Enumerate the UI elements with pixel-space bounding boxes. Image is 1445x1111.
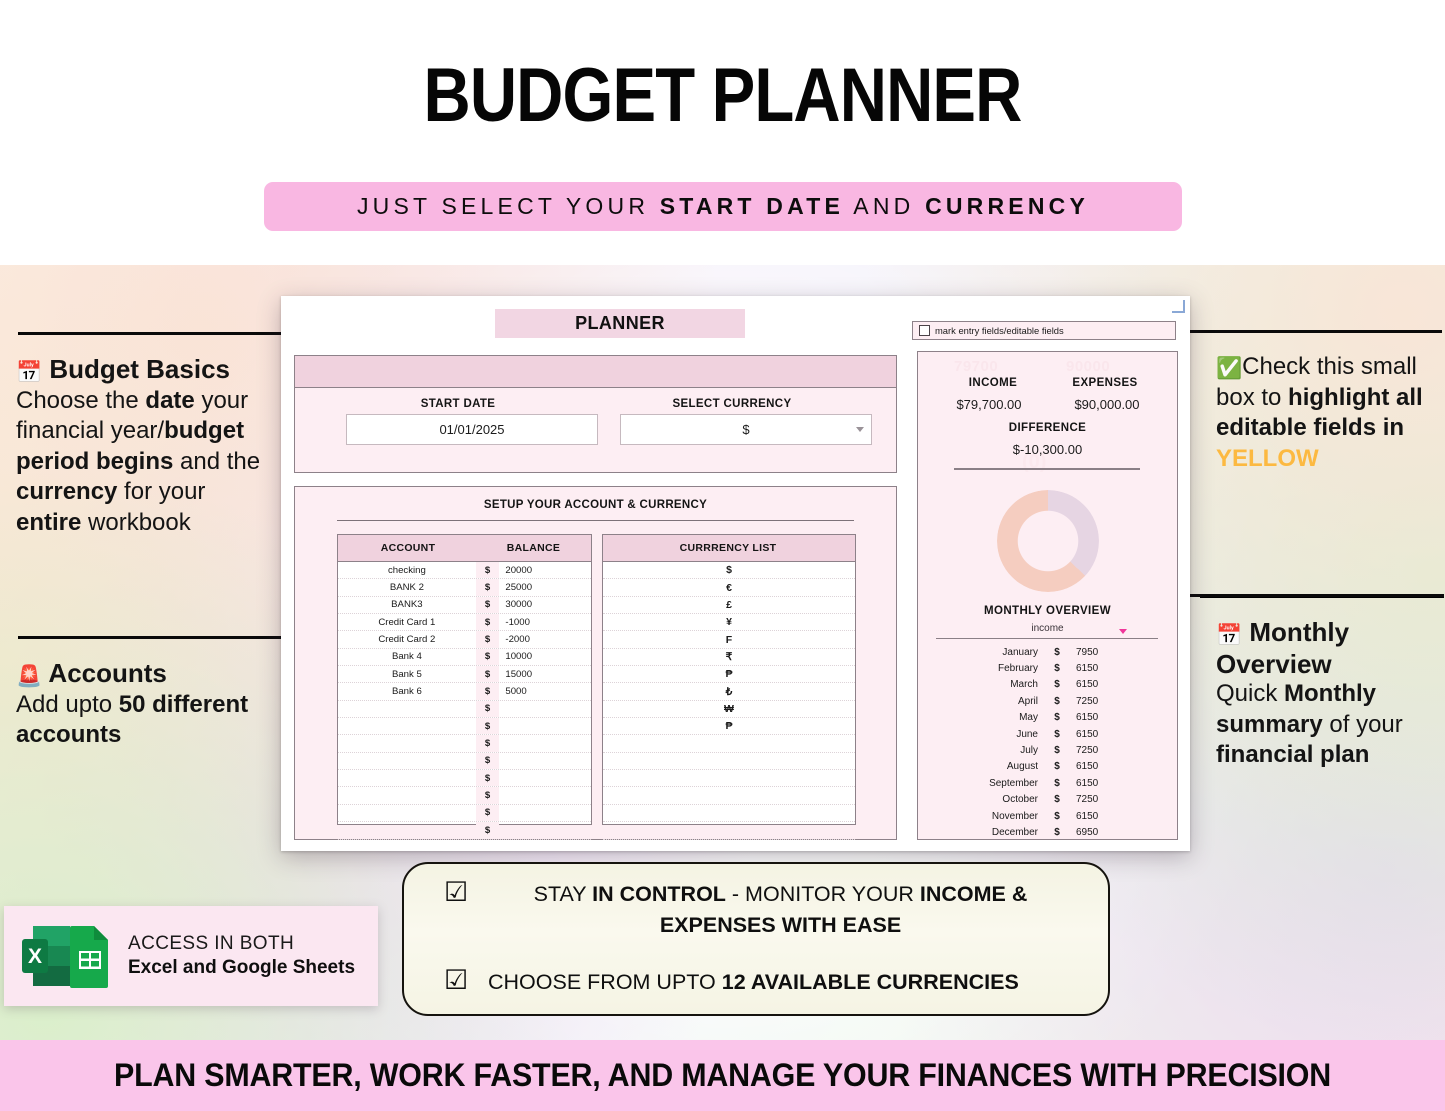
- annotation-monthly-overview: 📅 Monthly Overview Quick Monthly summary…: [1216, 617, 1441, 771]
- annotation-accounts-heading: 🚨 Accounts: [16, 658, 274, 690]
- subtitle-currency: CURRENCY: [925, 193, 1089, 219]
- month-value: 6150: [1066, 761, 1136, 772]
- accounts-table-header: ACCOUNT BALANCE: [338, 535, 591, 562]
- income-expenses-donut-chart: [997, 490, 1099, 592]
- calendar-icon: 📅: [1216, 624, 1242, 647]
- badge-text: ACCESS IN BOTH Excel and Google Sheets: [128, 933, 355, 980]
- mark-entry-fields-checkbox[interactable]: [919, 325, 930, 336]
- month-currency-symbol: $: [1048, 761, 1066, 772]
- account-balance-cell[interactable]: 25000: [499, 582, 591, 593]
- table-row: March$6150: [918, 677, 1177, 693]
- annotation-budget-basics-body: Choose the date your financial year/budg…: [16, 386, 274, 538]
- monthly-overview-selector[interactable]: income: [918, 623, 1177, 634]
- table-row[interactable]: $: [338, 787, 591, 804]
- subtitle-start-date: START DATE: [660, 193, 844, 219]
- arrow-to-planner-tab: [20, 332, 320, 335]
- list-item[interactable]: £: [603, 597, 855, 614]
- features-callout: ☑ STAY IN CONTROL - MONITOR YOUR INCOME …: [402, 862, 1110, 1016]
- month-currency-symbol: $: [1048, 663, 1066, 674]
- month-value: 6150: [1066, 712, 1136, 723]
- account-currency-cell: $: [476, 735, 500, 751]
- difference-value: $-10,300.00: [918, 442, 1177, 457]
- excel-icon: X: [22, 926, 70, 986]
- subtitle-pre: JUST SELECT YOUR: [357, 193, 660, 219]
- column-header-currency-list: CURRRENCY LIST: [603, 542, 853, 554]
- monthly-overview-title: MONTHLY OVERVIEW: [918, 605, 1177, 617]
- table-row[interactable]: Credit Card 1$-1000: [338, 614, 591, 631]
- list-item[interactable]: [603, 753, 855, 770]
- callout-line-1-text: STAY IN CONTROL - MONITOR YOUR INCOME & …: [488, 879, 1073, 941]
- month-currency-symbol: $: [1048, 745, 1066, 756]
- expenses-watermark: 90000: [1066, 358, 1110, 375]
- table-row[interactable]: Bank 6$5000: [338, 683, 591, 700]
- badge-line-2: Excel and Google Sheets: [128, 956, 355, 980]
- account-balance-cell[interactable]: 10000: [499, 651, 591, 662]
- month-label: June: [918, 729, 1048, 740]
- account-balance-cell[interactable]: -2000: [499, 634, 591, 645]
- month-value: 6150: [1066, 679, 1136, 690]
- select-currency-label: SELECT CURRENCY: [607, 398, 857, 410]
- account-name-cell[interactable]: Bank 6: [338, 686, 476, 697]
- table-row: July$7250: [918, 742, 1177, 758]
- month-currency-symbol: $: [1048, 811, 1066, 822]
- expenses-value: $90,000.00: [1048, 397, 1166, 412]
- account-name-cell[interactable]: Bank 4: [338, 651, 476, 662]
- check-mark-icon: ☑: [444, 967, 488, 994]
- month-currency-symbol: $: [1048, 679, 1066, 690]
- annotation-accounts: 🚨 Accounts Add upto 50 different account…: [16, 658, 274, 751]
- monthly-overview-divider: [936, 638, 1158, 639]
- spreadsheet-window[interactable]: PLANNER START DATE SELECT CURRENCY 01/01…: [281, 296, 1190, 851]
- month-value: 7950: [1066, 647, 1136, 658]
- month-currency-symbol: $: [1048, 778, 1066, 789]
- list-item[interactable]: $: [603, 562, 855, 579]
- list-item[interactable]: ₱: [603, 666, 855, 683]
- date-currency-card: START DATE SELECT CURRENCY 01/01/2025 $: [294, 355, 897, 473]
- account-name-cell[interactable]: BANK 2: [338, 582, 476, 593]
- month-label: December: [918, 827, 1048, 838]
- list-item[interactable]: ₺: [603, 683, 855, 700]
- table-row[interactable]: checking$20000: [338, 562, 591, 579]
- badge-line-1: ACCESS IN BOTH: [128, 933, 355, 956]
- account-currency-cell: $: [476, 579, 500, 595]
- account-balance-cell[interactable]: 30000: [499, 599, 591, 610]
- month-label: July: [918, 745, 1048, 756]
- table-row[interactable]: $: [338, 735, 591, 752]
- subtitle-pill: JUST SELECT YOUR START DATE AND CURRENCY: [264, 182, 1182, 231]
- table-row[interactable]: $: [338, 718, 591, 735]
- annotation-budget-basics-heading: 📅 Budget Basics: [16, 354, 274, 386]
- account-currency-cell: $: [476, 666, 500, 682]
- table-row[interactable]: BANK3$30000: [338, 597, 591, 614]
- currency-list-header: CURRRENCY LIST: [603, 535, 855, 562]
- setup-card: SETUP YOUR ACCOUNT & CURRENCY ACCOUNT BA…: [294, 486, 897, 840]
- month-value: 6150: [1066, 729, 1136, 740]
- account-name-cell[interactable]: checking: [338, 565, 476, 576]
- annotation-accounts-body: Add upto 50 different accounts: [16, 690, 274, 751]
- summary-card: 79700 90000 (0) INCOME EXPENSES $79,700.…: [917, 351, 1178, 840]
- callout-line-2-text: CHOOSE FROM UPTO 12 AVAILABLE CURRENCIES: [488, 967, 1084, 998]
- table-row: February$6150: [918, 660, 1177, 676]
- column-header-account: ACCOUNT: [338, 542, 478, 554]
- account-currency-cell: $: [476, 597, 500, 613]
- mark-entry-fields-row[interactable]: mark entry fields/editable fields: [912, 321, 1176, 340]
- table-row[interactable]: $: [338, 753, 591, 770]
- annotation-monthly-overview-heading: 📅 Monthly Overview: [1216, 617, 1441, 679]
- accounts-table[interactable]: ACCOUNT BALANCE checking$20000BANK 2$250…: [337, 534, 592, 825]
- check-mark-icon: ☑: [444, 879, 488, 906]
- accounts-table-body[interactable]: checking$20000BANK 2$25000BANK3$30000Cre…: [338, 562, 591, 840]
- list-item[interactable]: F: [603, 631, 855, 648]
- table-row: November$6150: [918, 808, 1177, 824]
- table-row: June$6150: [918, 726, 1177, 742]
- chevron-down-icon[interactable]: [1119, 629, 1127, 634]
- account-name-cell[interactable]: BANK3: [338, 599, 476, 610]
- table-row[interactable]: $: [338, 770, 591, 787]
- account-name-cell[interactable]: Bank 5: [338, 669, 476, 680]
- list-item[interactable]: ₹: [603, 649, 855, 666]
- start-date-label: START DATE: [333, 398, 583, 410]
- month-value: 7250: [1066, 794, 1136, 805]
- month-label: January: [918, 647, 1048, 658]
- svg-text:X: X: [28, 945, 42, 968]
- month-label: October: [918, 794, 1048, 805]
- setup-divider: [337, 520, 854, 521]
- summary-divider: [954, 468, 1140, 470]
- table-row: May$6150: [918, 710, 1177, 726]
- currency-select[interactable]: $: [620, 414, 872, 445]
- google-sheets-icon: [70, 926, 108, 988]
- table-row: October$7250: [918, 792, 1177, 808]
- arrow-to-monthly-overview: [1156, 594, 1444, 597]
- month-currency-symbol: $: [1048, 729, 1066, 740]
- list-item[interactable]: ¥: [603, 614, 855, 631]
- month-value: 6950: [1066, 827, 1136, 838]
- account-balance-cell[interactable]: 20000: [499, 565, 591, 576]
- mark-entry-fields-label: mark entry fields/editable fields: [935, 325, 1064, 336]
- bottom-banner: PLAN SMARTER, WORK FASTER, AND MANAGE YO…: [0, 1040, 1445, 1111]
- account-balance-cell[interactable]: -1000: [499, 617, 591, 628]
- list-item[interactable]: [603, 735, 855, 752]
- account-currency-cell: $: [476, 683, 500, 699]
- month-value: 6150: [1066, 811, 1136, 822]
- check-box-icon: ✅: [1216, 357, 1242, 380]
- table-row: April$7250: [918, 693, 1177, 709]
- planner-title-banner: PLANNER: [495, 309, 745, 338]
- account-balance-cell[interactable]: 5000: [499, 686, 591, 697]
- page-title: BUDGET PLANNER: [101, 58, 1344, 134]
- table-row[interactable]: $: [338, 822, 591, 839]
- resize-corner-icon[interactable]: [1172, 300, 1185, 313]
- table-row: January$7950: [918, 644, 1177, 660]
- chevron-down-icon[interactable]: [856, 427, 864, 432]
- planner-title-text: PLANNER: [575, 313, 665, 334]
- list-item[interactable]: [603, 822, 855, 839]
- month-currency-symbol: $: [1048, 647, 1066, 658]
- difference-label: DIFFERENCE: [918, 422, 1177, 434]
- account-currency-cell: $: [476, 753, 500, 769]
- month-label: April: [918, 696, 1048, 707]
- access-badge: X ACCESS IN BOTH Excel and Google Sheets: [4, 906, 378, 1006]
- callout-line-2: ☑ CHOOSE FROM UPTO 12 AVAILABLE CURRENCI…: [444, 967, 1084, 998]
- income-label: INCOME: [938, 377, 1048, 389]
- account-currency-cell: $: [476, 805, 500, 821]
- account-currency-cell: $: [476, 562, 500, 578]
- table-row[interactable]: $: [338, 701, 591, 718]
- annotation-editable-fields: ✅Check this small box to highlight all e…: [1216, 352, 1441, 474]
- currency-select-value: $: [742, 422, 749, 437]
- month-currency-symbol: $: [1048, 696, 1066, 707]
- account-currency-cell: $: [476, 614, 500, 630]
- annotation-editable-fields-body: ✅Check this small box to highlight all e…: [1216, 352, 1441, 474]
- annotation-budget-basics: 📅 Budget Basics Choose the date your fin…: [16, 354, 274, 538]
- app-logos: X: [18, 920, 118, 992]
- list-item[interactable]: [603, 805, 855, 822]
- month-label: September: [918, 778, 1048, 789]
- month-currency-symbol: $: [1048, 827, 1066, 838]
- table-row: December$6950: [918, 824, 1177, 840]
- callout-line-1: ☑ STAY IN CONTROL - MONITOR YOUR INCOME …: [444, 879, 1074, 941]
- month-currency-symbol: $: [1048, 712, 1066, 723]
- start-date-input[interactable]: 01/01/2025: [346, 414, 598, 445]
- currency-list-table[interactable]: CURRRENCY LIST $€£¥F₹₱₺₩₱: [602, 534, 856, 825]
- bottom-banner-text: PLAN SMARTER, WORK FASTER, AND MANAGE YO…: [114, 1057, 1331, 1094]
- account-currency-cell: $: [476, 718, 500, 734]
- account-currency-cell: $: [476, 631, 500, 647]
- header-zone: BUDGET PLANNER JUST SELECT YOUR START DA…: [0, 0, 1445, 265]
- list-item[interactable]: €: [603, 579, 855, 596]
- account-name-cell[interactable]: Credit Card 2: [338, 634, 476, 645]
- income-value: $79,700.00: [934, 397, 1044, 412]
- month-label: March: [918, 679, 1048, 690]
- table-row: August$6150: [918, 759, 1177, 775]
- list-item[interactable]: [603, 770, 855, 787]
- month-label: August: [918, 761, 1048, 772]
- list-item[interactable]: [603, 787, 855, 804]
- account-currency-cell: $: [476, 649, 500, 665]
- account-name-cell[interactable]: Credit Card 1: [338, 617, 476, 628]
- table-row: September$6150: [918, 775, 1177, 791]
- list-item[interactable]: ₩: [603, 701, 855, 718]
- column-header-balance: BALANCE: [478, 542, 589, 554]
- month-label: November: [918, 811, 1048, 822]
- annotation-monthly-overview-body: Quick Monthly summary of your financial …: [1216, 679, 1441, 770]
- currency-list-body[interactable]: $€£¥F₹₱₺₩₱: [603, 562, 855, 840]
- setup-card-title: SETUP YOUR ACCOUNT & CURRENCY: [295, 499, 896, 511]
- account-balance-cell[interactable]: 15000: [499, 669, 591, 680]
- table-row[interactable]: $: [338, 805, 591, 822]
- table-row[interactable]: Credit Card 2$-2000: [338, 631, 591, 648]
- list-item[interactable]: ₱: [603, 718, 855, 735]
- account-currency-cell: $: [476, 822, 500, 838]
- subtitle-text: JUST SELECT YOUR START DATE AND CURRENCY: [357, 193, 1089, 220]
- date-currency-card-header: [295, 356, 896, 388]
- month-label: May: [918, 712, 1048, 723]
- expenses-label: EXPENSES: [1050, 377, 1160, 389]
- month-value: 7250: [1066, 696, 1136, 707]
- table-row[interactable]: Bank 4$10000: [338, 649, 591, 666]
- month-currency-symbol: $: [1048, 794, 1066, 805]
- subtitle-mid: AND: [844, 193, 925, 219]
- month-value: 6150: [1066, 778, 1136, 789]
- account-currency-cell: $: [476, 701, 500, 717]
- table-row[interactable]: Bank 5$15000: [338, 666, 591, 683]
- arrow-to-mark-fields: [1156, 330, 1442, 333]
- month-value: 7250: [1066, 745, 1136, 756]
- month-label: February: [918, 663, 1048, 674]
- account-currency-cell: $: [476, 787, 500, 803]
- income-watermark: 79700: [954, 358, 998, 375]
- calendar-icon: 📅: [16, 361, 42, 384]
- siren-icon: 🚨: [16, 665, 42, 688]
- month-value: 6150: [1066, 663, 1136, 674]
- table-row[interactable]: BANK 2$25000: [338, 579, 591, 596]
- excel-sheets-logos-svg: X: [18, 920, 118, 992]
- account-currency-cell: $: [476, 770, 500, 786]
